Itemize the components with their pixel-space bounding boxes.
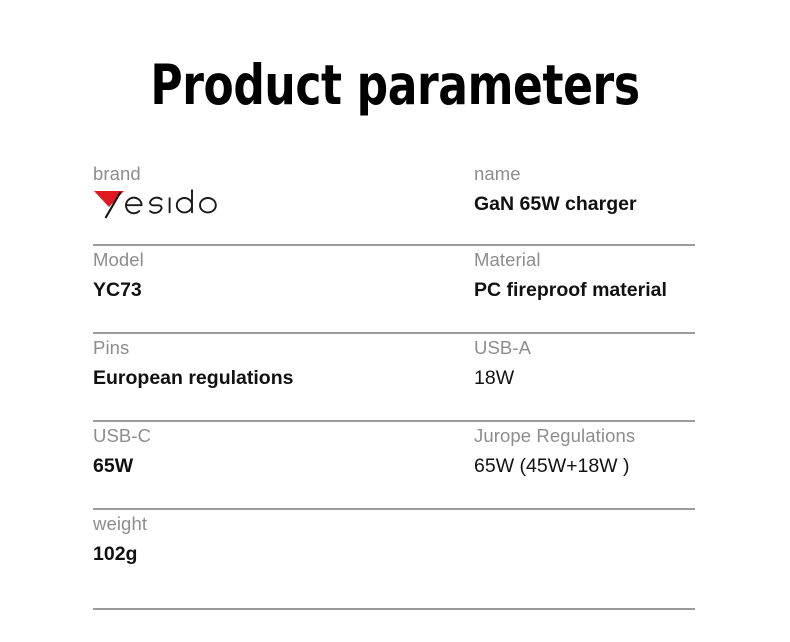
spec-value-weight: 102g [93,542,474,567]
spec-row-pins: Pins European regulations USB-A 18W [93,334,695,422]
spec-label-usb-a: USB-A [474,336,695,360]
spec-cell-model: Model YC73 [93,246,474,303]
spec-row-brand: brand [93,160,695,246]
specification-table: brand [93,160,695,610]
spec-cell-material: Material PC fireproof material [474,246,695,303]
spec-value-model: YC73 [93,278,474,303]
spec-label-material: Material [474,248,695,272]
spec-label-brand: brand [93,162,474,186]
spec-value-usb-a: 18W [474,366,695,391]
spec-cell-weight: weight 102g [93,510,474,567]
product-parameters-page: Product parameters brand [0,0,790,642]
spec-row-usb-c: USB-C 65W Jurope Regulations 65W (45W+18… [93,422,695,510]
spec-cell-pins: Pins European regulations [93,334,474,391]
spec-value-usb-c: 65W [93,454,474,479]
yesido-logo [93,189,225,219]
spec-value-jurope-regulations: 65W (45W+18W ) [474,454,695,479]
spec-cell-usb-c: USB-C 65W [93,422,474,479]
spec-label-usb-c: USB-C [93,424,474,448]
spec-label-name: name [474,162,695,186]
spec-cell-usb-a: USB-A 18W [474,334,695,391]
spec-cell-empty [474,510,695,513]
spec-cell-jurope-regulations: Jurope Regulations 65W (45W+18W ) [474,422,695,479]
spec-row-weight: weight 102g [93,510,695,610]
spec-empty-placeholder [474,512,695,513]
spec-cell-brand: brand [93,160,474,219]
spec-label-model: Model [93,248,474,272]
spec-label-jurope-regulations: Jurope Regulations [474,424,695,448]
spec-label-pins: Pins [93,336,474,360]
spec-row-model: Model YC73 Material PC fireproof materia… [93,246,695,334]
spec-cell-name: name GaN 65W charger [474,160,695,217]
page-title: Product parameters [79,52,711,118]
spec-value-pins: European regulations [93,366,474,391]
spec-value-name: GaN 65W charger [474,192,695,217]
spec-label-weight: weight [93,512,474,536]
spec-value-material: PC fireproof material [474,278,695,303]
